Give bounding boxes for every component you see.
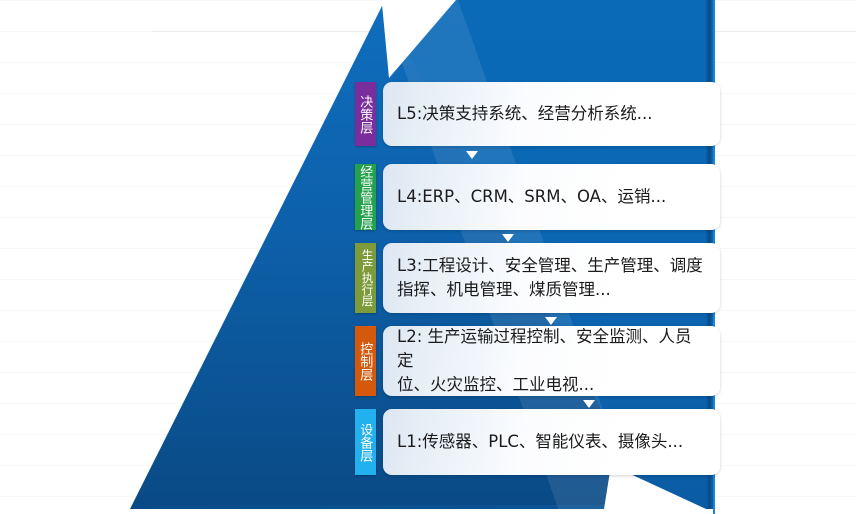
level-marker-l4 xyxy=(502,234,514,242)
level-row-l2[interactable]: 控制层 L2: 生产运输过程控制、安全监测、人员定 位、火灾监控、工业电视... xyxy=(355,326,720,396)
level-tag-l5: 决策层 xyxy=(355,82,376,146)
level-tag-l3: 生产执行层 xyxy=(355,243,376,313)
level-tag-l4: 经营管理层 xyxy=(355,164,376,230)
level-card-text-l2: L2: 生产运输过程控制、安全监测、人员定 位、火灾监控、工业电视... xyxy=(397,325,706,397)
level-card-text-l4: L4:ERP、CRM、SRM、OA、运销... xyxy=(397,185,666,209)
level-row-l3[interactable]: 生产执行层 L3:工程设计、安全管理、生产管理、调度 指挥、机电管理、煤质管理.… xyxy=(355,243,720,313)
level-row-l5[interactable]: 决策层 L5:决策支持系统、经营分析系统... xyxy=(355,82,720,146)
level-row-l1[interactable]: 设备层 L1:传感器、PLC、智能仪表、摄像头... xyxy=(355,409,720,475)
level-tag-l2: 控制层 xyxy=(355,326,376,396)
level-tag-l1: 设备层 xyxy=(355,409,376,475)
level-marker-l3 xyxy=(545,317,557,325)
level-card-text-l5: L5:决策支持系统、经营分析系统... xyxy=(397,102,652,126)
level-card-text-l3: L3:工程设计、安全管理、生产管理、调度 指挥、机电管理、煤质管理... xyxy=(397,254,703,302)
level-card-l2[interactable]: L2: 生产运输过程控制、安全监测、人员定 位、火灾监控、工业电视... xyxy=(383,326,720,396)
level-row-l4[interactable]: 经营管理层 L4:ERP、CRM、SRM、OA、运销... xyxy=(355,164,720,230)
level-marker-l5 xyxy=(466,151,478,159)
level-card-l3[interactable]: L3:工程设计、安全管理、生产管理、调度 指挥、机电管理、煤质管理... xyxy=(383,243,720,313)
level-card-l5[interactable]: L5:决策支持系统、经营分析系统... xyxy=(383,82,720,146)
level-rows: 决策层 L5:决策支持系统、经营分析系统... 经营管理层 L4:ERP、CRM… xyxy=(0,0,856,514)
level-card-l4[interactable]: L4:ERP、CRM、SRM、OA、运销... xyxy=(383,164,720,230)
diagram-canvas: 决策层 L5:决策支持系统、经营分析系统... 经营管理层 L4:ERP、CRM… xyxy=(0,0,856,514)
level-marker-l2 xyxy=(583,400,595,408)
level-card-l1[interactable]: L1:传感器、PLC、智能仪表、摄像头... xyxy=(383,409,720,475)
level-card-text-l1: L1:传感器、PLC、智能仪表、摄像头... xyxy=(397,430,683,454)
